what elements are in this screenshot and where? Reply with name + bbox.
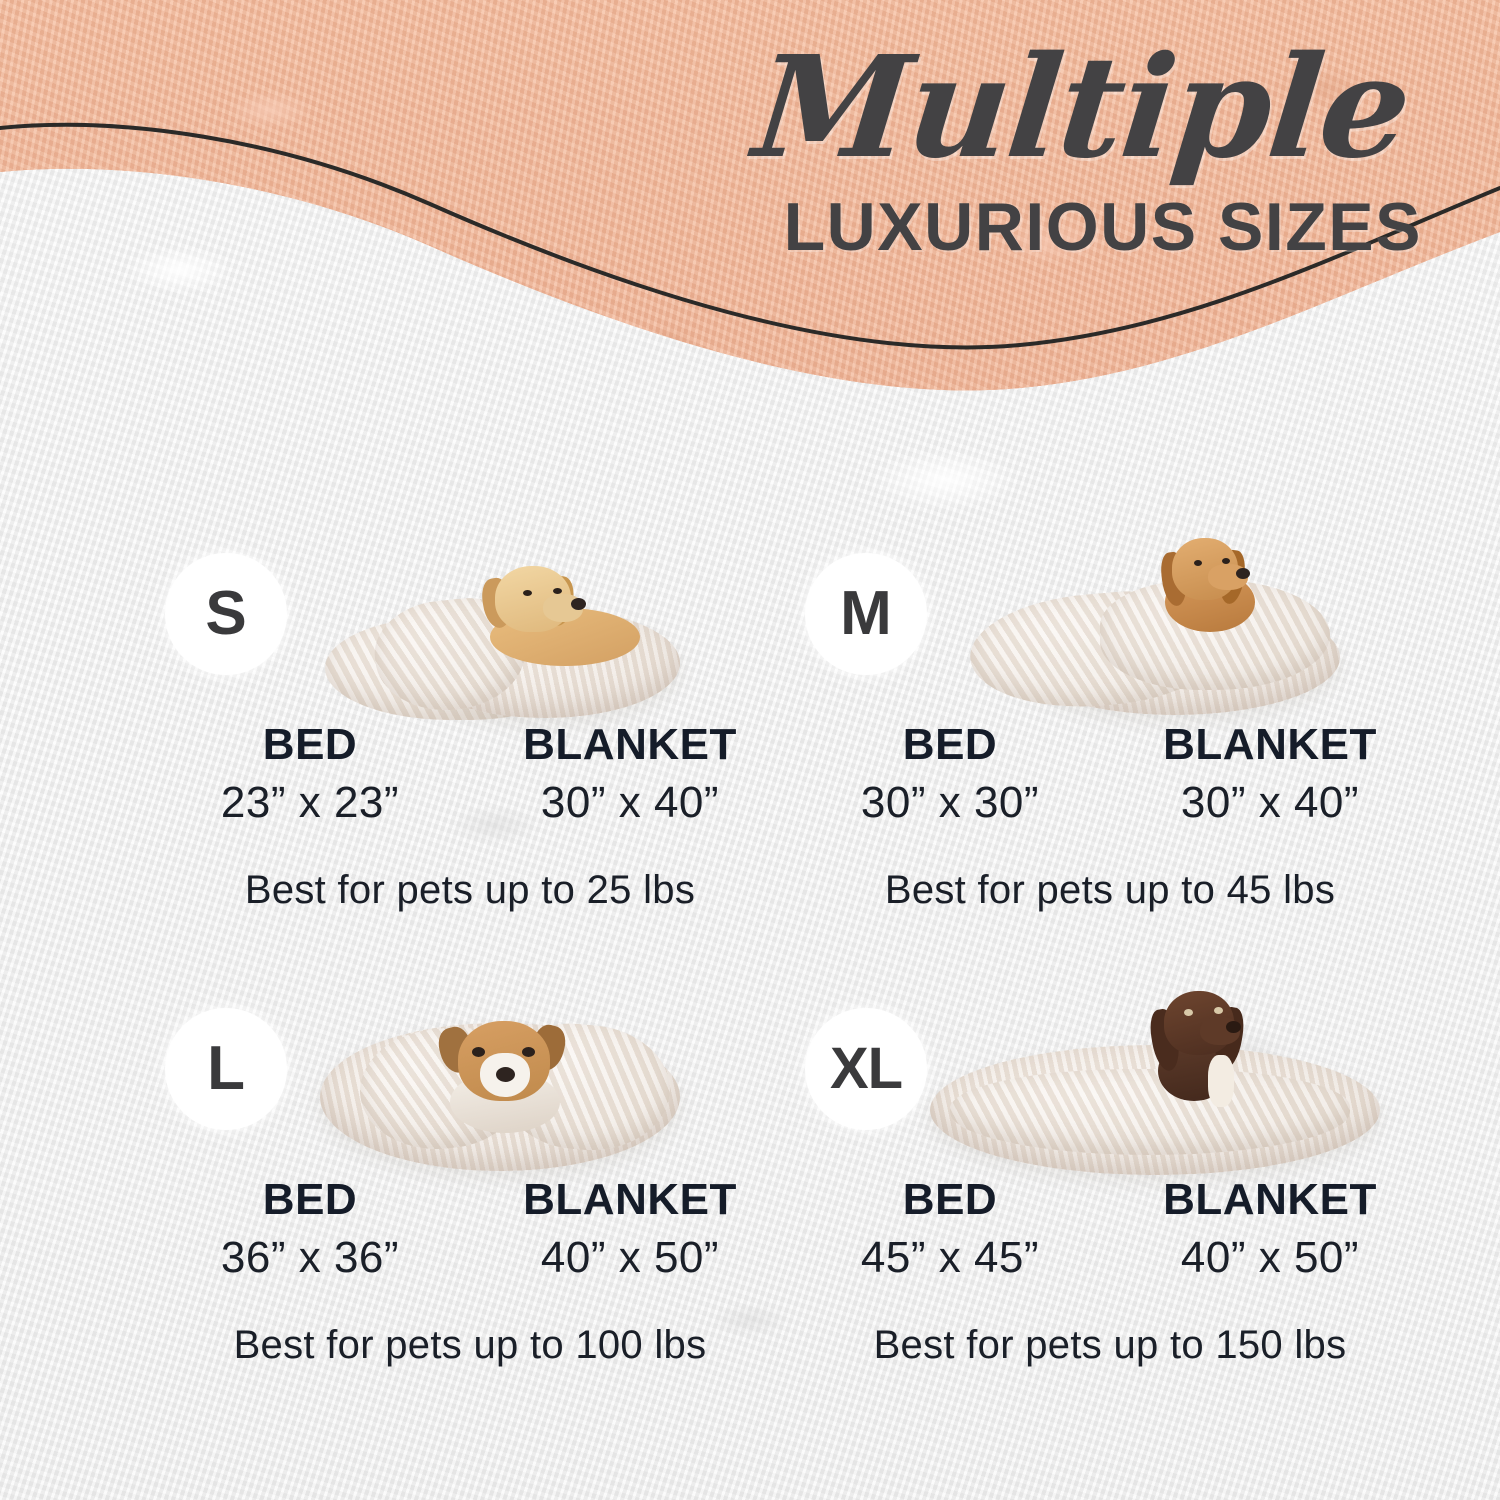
size-details-small: BED 23” x 23” BLANKET 30” x 40” Best for… [150,722,790,913]
best-for-text: Best for pets up to 45 lbs [790,868,1430,913]
blanket-dimensions: 30” x 40” [470,780,790,826]
size-badge-small: S [165,553,287,675]
bed-label: BED [790,722,1110,768]
size-details-large: BED 36” x 36” BLANKET 40” x 50” Best for… [150,1177,790,1368]
bed-label: BED [150,722,470,768]
bed-dimensions: 30” x 30” [790,780,1110,826]
bed-column: BED 45” x 45” [790,1177,1110,1281]
size-panel-small: S BED 23” x 23” [150,540,790,960]
best-for-text: Best for pets up to 100 lbs [150,1323,790,1368]
bed-column: BED 30” x 30” [790,722,1110,826]
bed-dimensions: 23” x 23” [150,780,470,826]
header-script-word: Multiple [749,38,1430,178]
header-titles: Multiple LUXURIOUS SIZES [756,38,1422,266]
blanket-column: BLANKET 40” x 50” [1110,1177,1430,1281]
blanket-column: BLANKET 30” x 40” [470,722,790,826]
blanket-label: BLANKET [1110,1177,1430,1223]
size-panel-large: L BED 36” x 36” [150,995,790,1415]
blanket-label: BLANKET [470,1177,790,1223]
blanket-label: BLANKET [1110,722,1430,768]
size-details-medium: BED 30” x 30” BLANKET 30” x 40” Best for… [790,722,1430,913]
size-badge-xlarge: XL [805,1008,927,1130]
bed-dimensions: 45” x 45” [790,1235,1110,1281]
size-panel-xlarge: XL BED 45” x 45” [790,995,1430,1415]
best-for-text: Best for pets up to 25 lbs [150,868,790,913]
best-for-text: Best for pets up to 150 lbs [790,1323,1430,1368]
size-details-xlarge: BED 45” x 45” BLANKET 40” x 50” Best for… [790,1177,1430,1368]
size-panel-medium: M BED 30” x 30” [790,540,1430,960]
bed-label: BED [790,1177,1110,1223]
size-badge-label: M [840,583,892,645]
header-subtitle: LUXURIOUS SIZES [756,188,1422,266]
size-badge-medium: M [805,553,927,675]
blanket-dimensions: 40” x 50” [470,1235,790,1281]
blanket-dimensions: 40” x 50” [1110,1235,1430,1281]
blanket-column: BLANKET 40” x 50” [470,1177,790,1281]
product-photo-medium [950,550,1350,725]
product-photo-small [315,560,675,725]
bed-column: BED 36” x 36” [150,1177,470,1281]
size-badge-label: L [207,1038,245,1100]
size-badge-label: S [205,583,246,645]
product-photo-xlarge [920,985,1390,1185]
size-badge-large: L [165,1008,287,1130]
product-photo-large [300,1005,700,1185]
bed-label: BED [150,1177,470,1223]
infographic-canvas: Multiple LUXURIOUS SIZES S [0,0,1500,1500]
bed-dimensions: 36” x 36” [150,1235,470,1281]
blanket-column: BLANKET 30” x 40” [1110,722,1430,826]
blanket-label: BLANKET [470,722,790,768]
size-badge-label: XL [830,1040,902,1098]
bed-column: BED 23” x 23” [150,722,470,826]
blanket-dimensions: 30” x 40” [1110,780,1430,826]
